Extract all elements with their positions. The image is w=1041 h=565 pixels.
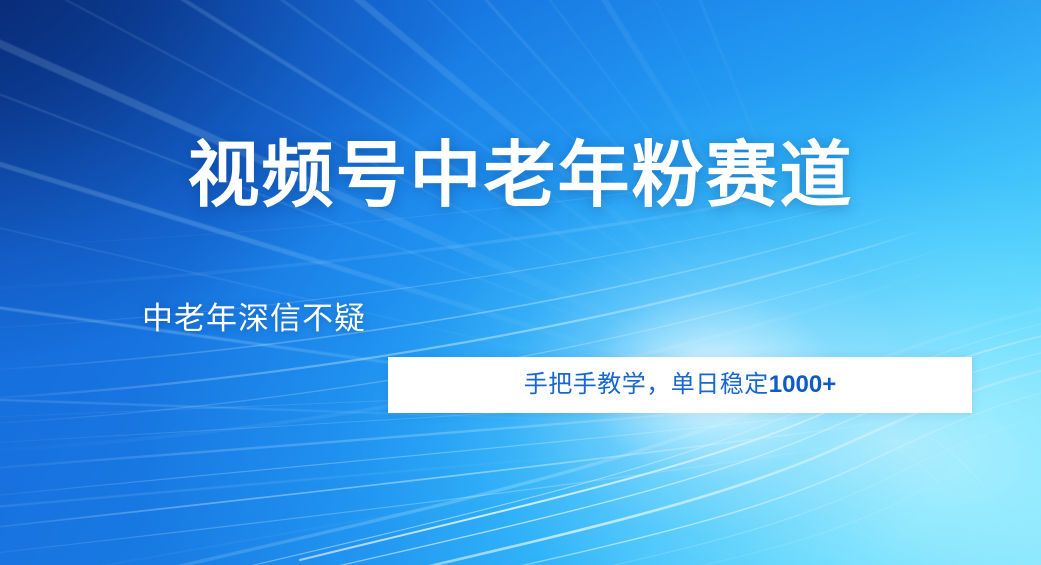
callout-amount-text: 1000+ <box>769 371 836 398</box>
poster-canvas: 视频号中老年粉赛道 中老年深信不疑 手把手教学，单日稳定1000+ <box>0 0 1041 565</box>
page-title: 视频号中老年粉赛道 <box>0 133 1041 219</box>
subtitle-text: 中老年深信不疑 <box>142 299 366 339</box>
background-dark-corner <box>0 0 1041 565</box>
callout-banner: 手把手教学，单日稳定1000+ <box>388 357 972 413</box>
callout-banner-text: 手把手教学，单日稳定1000+ <box>524 371 836 399</box>
callout-lead-text: 手把手教学，单日稳定 <box>524 371 769 398</box>
